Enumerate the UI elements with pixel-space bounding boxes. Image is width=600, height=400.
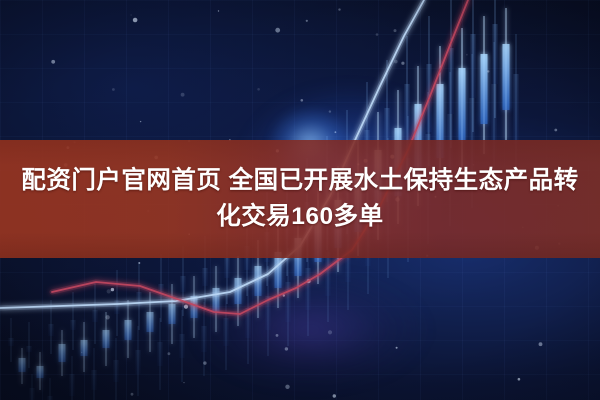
banner-image: 配资门户官网首页 全国已开展水土保持生态产品转 化交易160多单 bbox=[0, 0, 600, 400]
headline-block: 配资门户官网首页 全国已开展水土保持生态产品转 化交易160多单 bbox=[0, 140, 600, 258]
headline-line-1: 配资门户官网首页 全国已开展水土保持生态产品转 bbox=[21, 164, 578, 198]
headline-line-2: 化交易160多单 bbox=[216, 200, 383, 234]
